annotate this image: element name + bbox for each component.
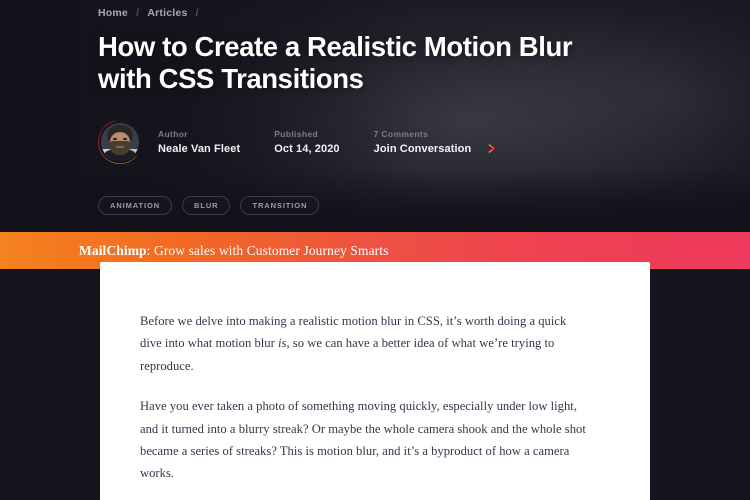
- meta-author-value[interactable]: Neale Van Fleet: [158, 143, 240, 155]
- article-meta: Author Neale Van Fleet Published Oct 14,…: [98, 120, 718, 164]
- article-paragraph-1: Before we delve into making a realistic …: [140, 310, 590, 377]
- join-conversation[interactable]: Join Conversation: [374, 143, 497, 155]
- join-conversation-label: Join Conversation: [374, 143, 472, 155]
- breadcrumb: Home / Articles /: [98, 7, 718, 19]
- article-body: Before we delve into making a realistic …: [100, 262, 650, 485]
- meta-comments: 7 Comments Join Conversation: [374, 129, 497, 155]
- page-root: Home / Articles / How to Create a Realis…: [0, 0, 750, 500]
- breadcrumb-separator: /: [136, 7, 139, 19]
- meta-published: Published Oct 14, 2020: [274, 129, 339, 155]
- avatar[interactable]: [98, 120, 142, 164]
- meta-author: Author Neale Van Fleet: [158, 129, 240, 155]
- avatar-image: [101, 123, 139, 161]
- tag-blur[interactable]: BLUR: [182, 196, 230, 216]
- avatar-mouth: [116, 146, 124, 148]
- sponsor-banner-text: MailChimp: Grow sales with Customer Jour…: [79, 243, 389, 259]
- breadcrumb-item-articles[interactable]: Articles: [147, 7, 187, 19]
- sponsor-brand: MailChimp: [79, 243, 147, 258]
- hero-content: Home / Articles / How to Create a Realis…: [98, 0, 718, 215]
- meta-author-label: Author: [158, 129, 240, 139]
- hero-section: Home / Articles / How to Create a Realis…: [0, 0, 750, 232]
- meta-comments-label: 7 Comments: [374, 129, 497, 139]
- tag-list: ANIMATION BLUR TRANSITION: [98, 196, 718, 216]
- meta-published-value: Oct 14, 2020: [274, 143, 339, 155]
- breadcrumb-item-home[interactable]: Home: [98, 7, 128, 19]
- tag-transition[interactable]: TRANSITION: [240, 196, 319, 216]
- page-title: How to Create a Realistic Motion Blur wi…: [98, 31, 618, 96]
- article-card: Before we delve into making a realistic …: [100, 262, 650, 500]
- meta-published-label: Published: [274, 129, 339, 139]
- sponsor-message: Grow sales with Customer Journey Smarts: [154, 243, 389, 258]
- sponsor-separator: :: [147, 243, 154, 258]
- breadcrumb-separator-2: /: [196, 7, 199, 19]
- tag-animation[interactable]: ANIMATION: [98, 196, 172, 216]
- arrow-right-icon: [479, 144, 496, 153]
- article-paragraph-2: Have you ever taken a photo of something…: [140, 395, 590, 485]
